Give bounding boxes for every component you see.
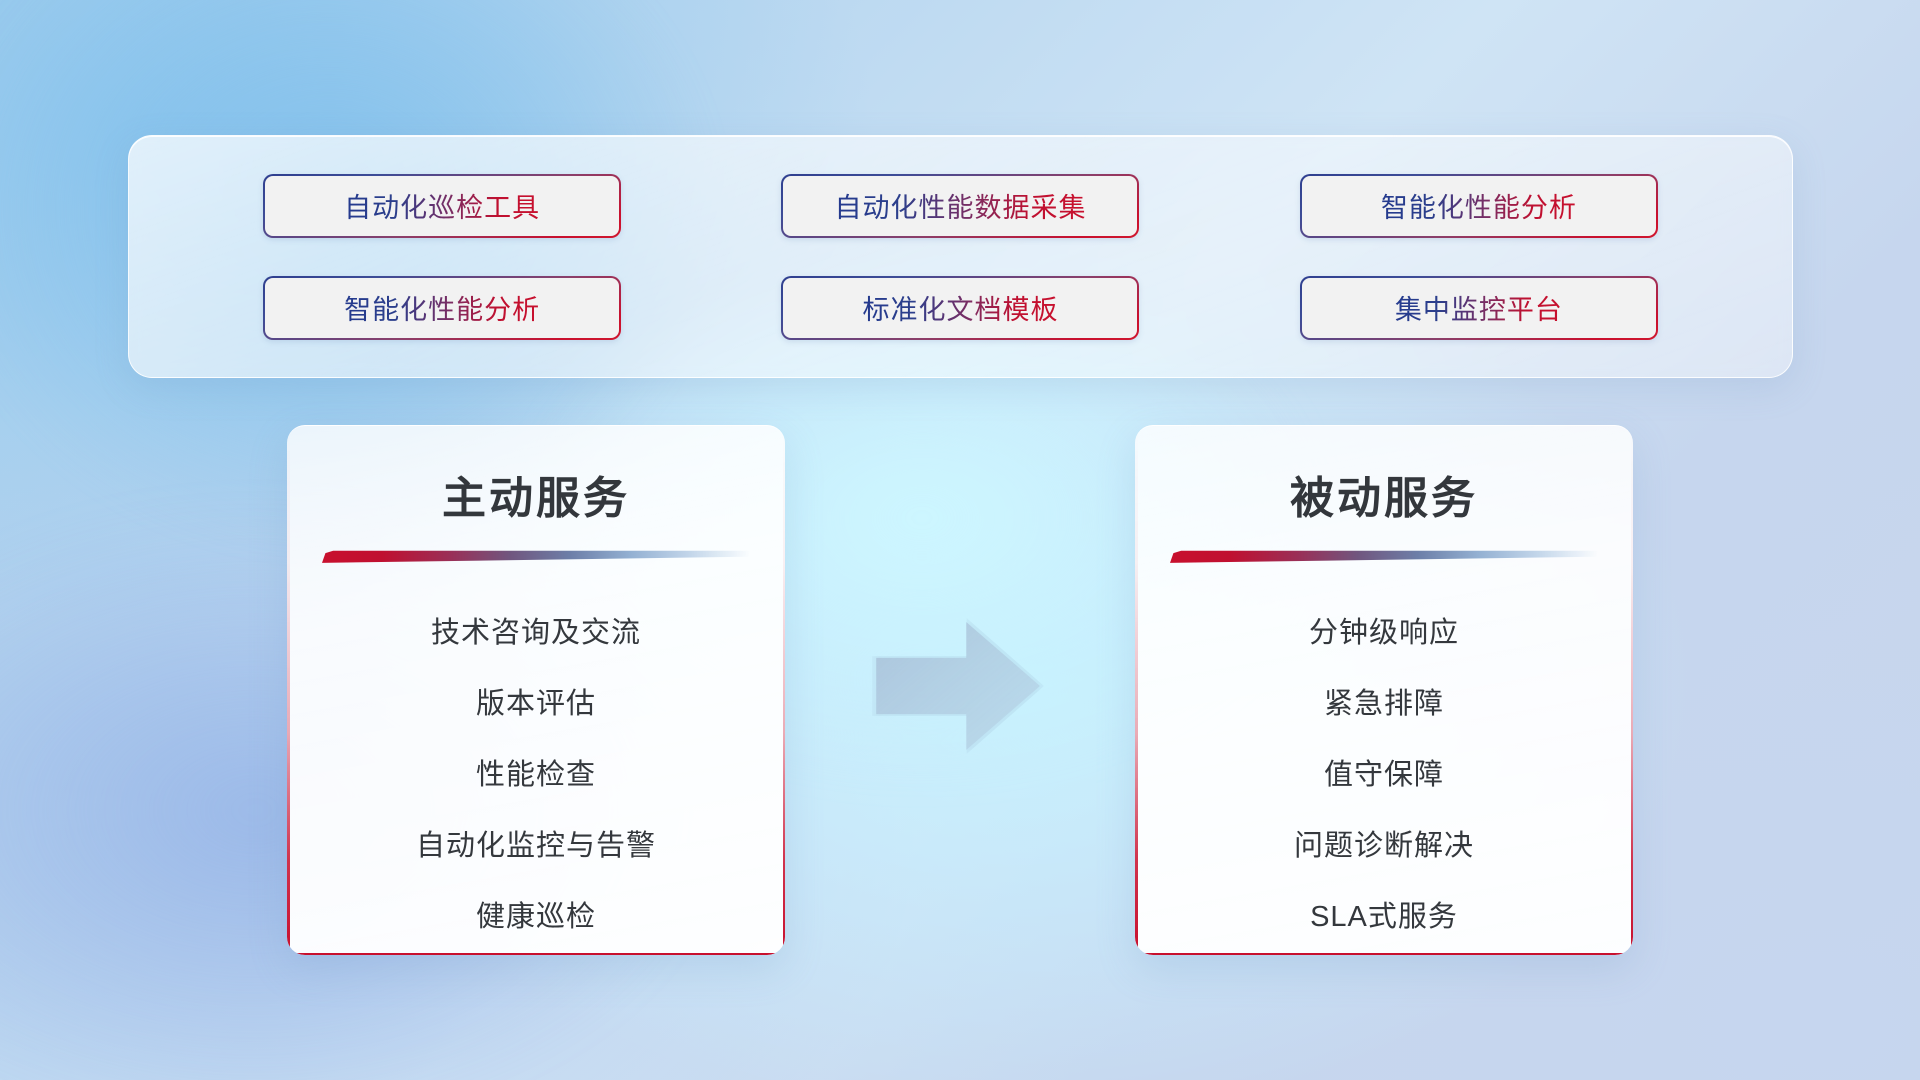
service-item: 版本评估 [476, 669, 596, 740]
service-item-list: 技术咨询及交流 版本评估 性能检查 自动化监控与告警 健康巡检 [287, 598, 785, 953]
service-item: 值守保障 [1324, 740, 1444, 811]
card-edge-left [287, 426, 290, 955]
service-item: 健康巡检 [476, 882, 596, 953]
capability-pill[interactable]: 智能化性能分析 [263, 276, 621, 340]
service-item: 自动化监控与告警 [416, 811, 656, 882]
card-edge-bottom [287, 953, 785, 956]
capability-pill-inner: 自动化性能数据采集 [783, 176, 1137, 236]
service-item-list: 分钟级响应 紧急排障 值守保障 问题诊断解决 SLA式服务 [1135, 598, 1633, 953]
card-edge-right [783, 426, 786, 955]
capability-pill-inner: 智能化性能分析 [265, 278, 619, 338]
capability-pill-label: 集中监控平台 [1395, 288, 1563, 327]
service-card-proactive[interactable]: 主动服务 技术咨询及交流 版本评估 性能检查 自动化监控与告警 健康巡检 [287, 425, 785, 955]
card-title-underline [322, 550, 750, 564]
capability-pill[interactable]: 自动化性能数据采集 [781, 174, 1139, 238]
capability-pill-inner: 自动化巡检工具 [265, 176, 619, 236]
card-title-underline-wedge [322, 550, 750, 564]
capability-pill-grid: 自动化巡检工具 自动化性能数据采集 智能化性能分析 智能化性能分析 标准化文档模… [129, 174, 1792, 340]
capability-pill-label: 自动化巡检工具 [344, 186, 540, 225]
service-item: 技术咨询及交流 [431, 598, 641, 669]
capability-pill-label: 智能化性能分析 [1381, 186, 1577, 225]
card-title-underline [1170, 550, 1598, 564]
capability-pill-label: 智能化性能分析 [344, 288, 540, 327]
capability-pill[interactable]: 智能化性能分析 [1300, 174, 1658, 238]
service-card-reactive[interactable]: 被动服务 分钟级响应 紧急排障 值守保障 问题诊断解决 SLA式服务 [1135, 425, 1633, 955]
capability-pill-inner: 标准化文档模板 [783, 278, 1137, 338]
card-title: 被动服务 [1135, 462, 1633, 526]
capability-pill[interactable]: 自动化巡检工具 [263, 174, 621, 238]
capability-pill-inner: 智能化性能分析 [1302, 176, 1656, 236]
card-title-underline-wedge [1170, 550, 1598, 564]
capability-pill-inner: 集中监控平台 [1302, 278, 1656, 338]
capabilities-panel: 自动化巡检工具 自动化性能数据采集 智能化性能分析 智能化性能分析 标准化文档模… [128, 135, 1793, 378]
service-item: 问题诊断解决 [1294, 811, 1474, 882]
capability-pill[interactable]: 标准化文档模板 [781, 276, 1139, 340]
card-title: 主动服务 [287, 462, 785, 526]
card-edge-right [1631, 426, 1634, 955]
card-edge-left [1135, 426, 1138, 955]
capability-pill[interactable]: 集中监控平台 [1300, 276, 1658, 340]
capability-pill-label: 自动化性能数据采集 [834, 186, 1086, 225]
service-item: SLA式服务 [1310, 882, 1458, 953]
capability-pill-label: 标准化文档模板 [862, 288, 1058, 327]
service-item: 紧急排障 [1324, 669, 1444, 740]
card-edge-bottom [1135, 953, 1633, 956]
service-item: 分钟级响应 [1309, 598, 1459, 669]
service-item: 性能检查 [476, 740, 596, 811]
